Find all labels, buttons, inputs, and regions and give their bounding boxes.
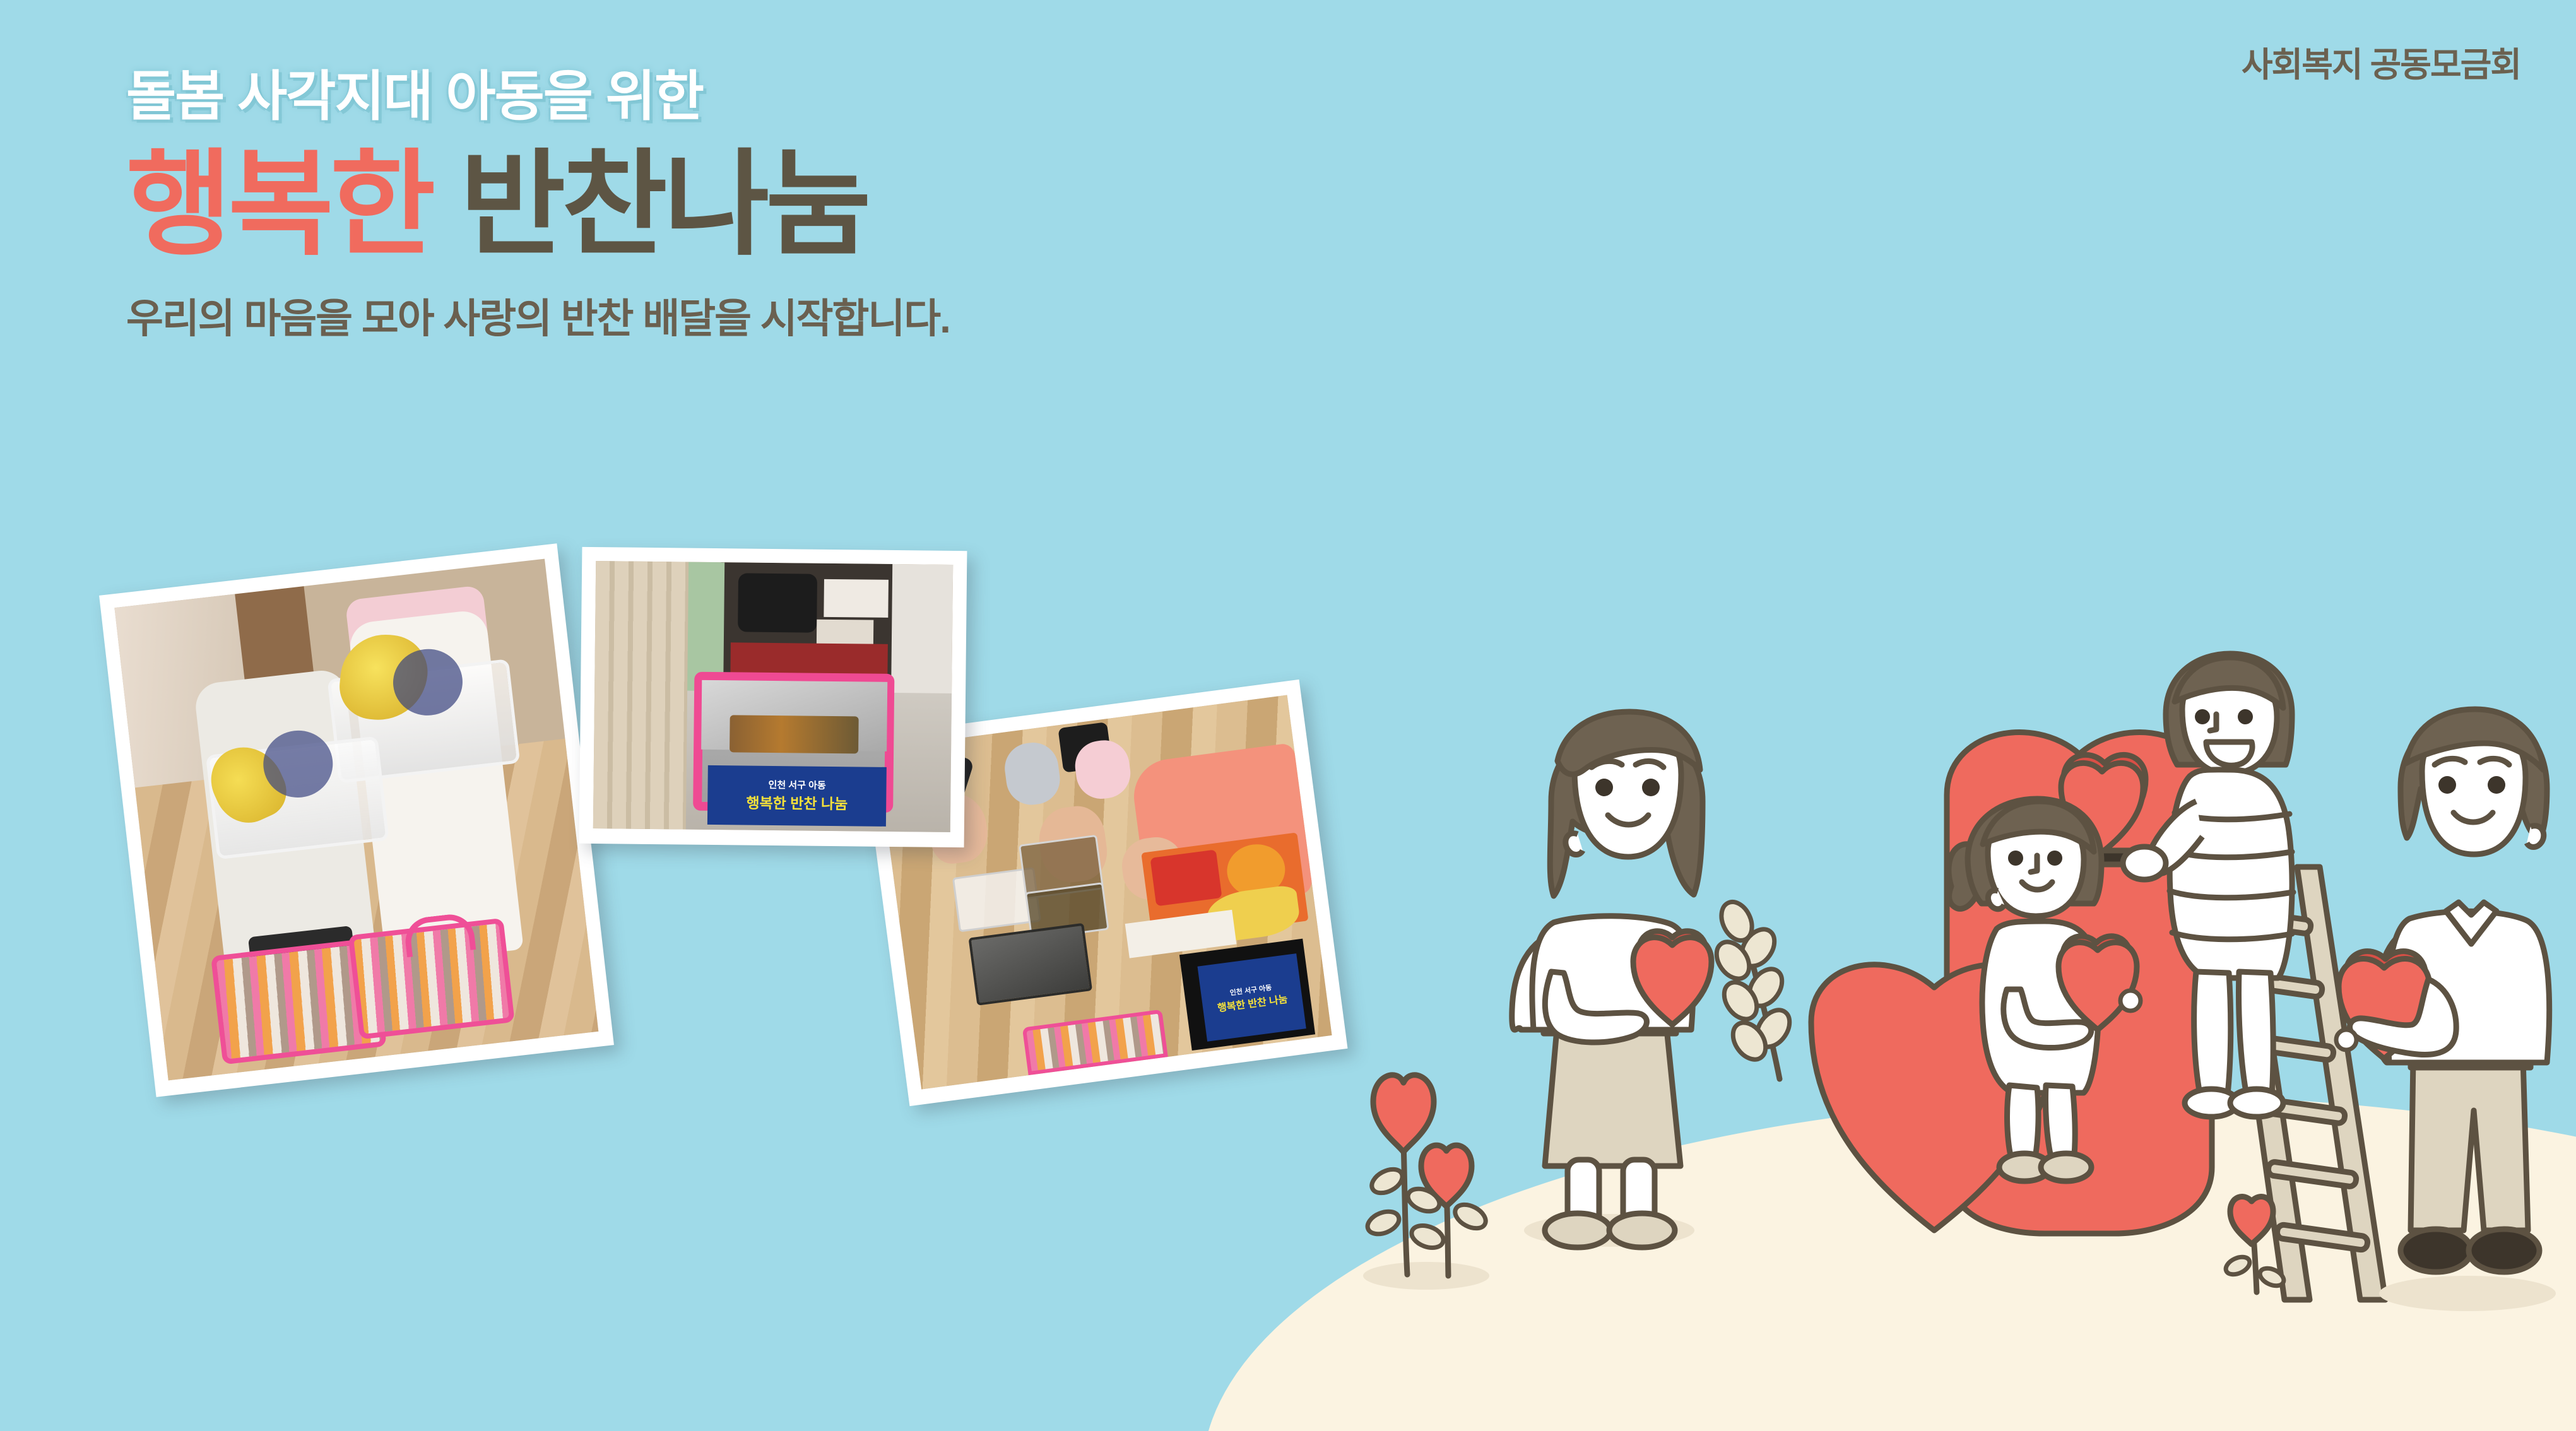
eyebrow-text: 돌봄 사각지대 아동을 위한 [126,69,950,124]
subtitle-text: 우리의 마음을 모아 사랑의 반찬 배달을 시작합니다. [126,286,950,344]
leaf-branch [1710,897,1797,1079]
photo-cooler-at-door: 인천 서구 아동 행복한 반찬 나눔 [579,547,967,847]
page-title: 행복한 반찬나눔 [126,146,950,264]
cooler-bag-label: 인천 서구 아동 행복한 반찬 나눔 [707,765,887,826]
promo-banner: 돌봄 사각지대 아동을 위한 행복한 반찬나눔 우리의 마음을 모아 사랑의 반… [0,0,2576,1431]
cooler-bag-label-line1: 인천 서구 아동 [768,778,825,792]
photo-cooler-at-door-image: 인천 서구 아동 행복한 반찬 나눔 [593,561,953,832]
org-logo-text: 사회복지 공동모금회 [2242,37,2520,86]
title-brown-part: 반찬나눔 [460,140,868,269]
photo-kids-with-food-image [114,559,598,1081]
heart-flowers [1363,1075,1489,1290]
photo-collage: 인천 서구 아동 행복한 반찬 나눔 인천 서구 아동 행복한 반찬 나눔 [0,555,1325,1186]
woman-holding-heart [1512,712,1711,1247]
photo-kids-with-food [99,543,614,1097]
title-coral-part: 행복한 [126,140,432,269]
cooler-bag-label-line2: 행복한 반찬 나눔 [746,791,848,814]
hero-illustration: .ln{fill:none;stroke:#5D5242;stroke-widt… [1313,644,2576,1338]
headline-block: 돌봄 사각지대 아동을 위한 행복한 반찬나눔 우리의 마음을 모아 사랑의 반… [126,69,950,344]
packing-bag-label: 인천 서구 아동 행복한 반찬 나눔 [1198,953,1306,1041]
